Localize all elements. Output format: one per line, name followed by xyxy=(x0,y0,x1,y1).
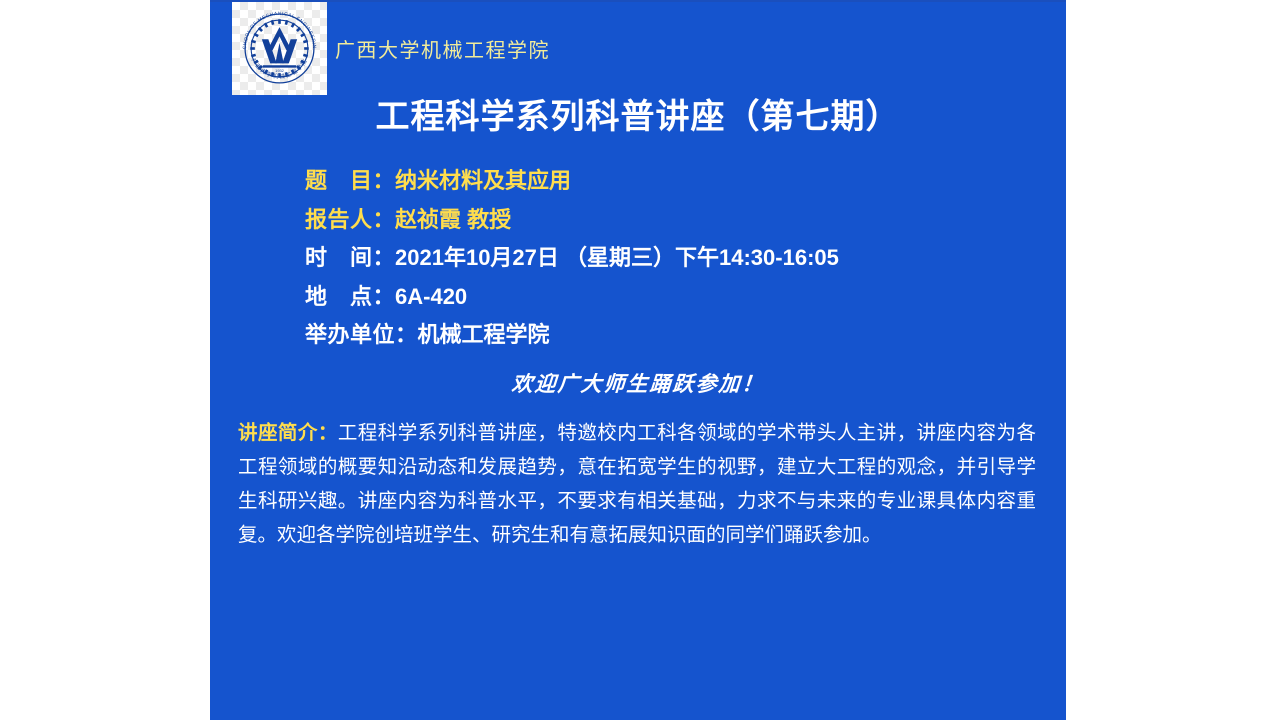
poster-title: 工程科学系列科普讲座（第七期） xyxy=(210,95,1066,139)
info-value-organizer: 机械工程学院 xyxy=(418,322,550,347)
description-body: 工程科学系列科普讲座，特邀校内工科各领域的学术带头人主讲，讲座内容为各工程领域的… xyxy=(238,422,1036,546)
info-value-time: 2021年10月27日 （星期三）下午14:30-16:05 xyxy=(395,245,839,270)
info-value-speaker: 赵祯霞 教授 xyxy=(395,207,511,232)
school-emblem-icon: 1932 SCHOOL OF MECHANICAL ENGINEERING 广西… xyxy=(232,2,327,95)
info-label-topic: 题 目： xyxy=(305,168,395,193)
info-value-topic: 纳米材料及其应用 xyxy=(395,168,571,193)
lecture-info-list: 题 目：纳米材料及其应用 报告人：赵祯霞 教授 时 间：2021年10月27日 … xyxy=(305,162,1045,355)
lecture-description: 讲座简介：工程科学系列科普讲座，特邀校内工科各领域的学术带头人主讲，讲座内容为各… xyxy=(238,416,1036,552)
info-line-topic: 题 目：纳米材料及其应用 xyxy=(305,162,1045,201)
description-label: 讲座简介： xyxy=(238,422,338,444)
info-line-organizer: 举办单位：机械工程学院 xyxy=(305,316,1045,355)
info-label-location: 地 点： xyxy=(305,284,395,309)
poster-panel: 1932 SCHOOL OF MECHANICAL ENGINEERING 广西… xyxy=(210,0,1066,720)
school-name-text: 广西大学机械工程学院 xyxy=(335,38,550,64)
info-value-location: 6A-420 xyxy=(395,284,467,309)
poster-header: 1932 SCHOOL OF MECHANICAL ENGINEERING 广西… xyxy=(232,2,1044,96)
poster-root: 1932 SCHOOL OF MECHANICAL ENGINEERING 广西… xyxy=(0,0,1280,720)
info-line-speaker: 报告人：赵祯霞 教授 xyxy=(305,201,1045,240)
info-label-time: 时 间： xyxy=(305,245,395,270)
info-label-speaker: 报告人： xyxy=(305,207,395,232)
info-line-location: 地 点：6A-420 xyxy=(305,278,1045,317)
info-line-time: 时 间：2021年10月27日 （星期三）下午14:30-16:05 xyxy=(305,239,1045,278)
info-label-organizer: 举办单位： xyxy=(305,322,418,347)
svg-text:1932: 1932 xyxy=(275,68,284,73)
welcome-slogan: 欢迎广大师生踊跃参加！ xyxy=(210,370,1066,400)
